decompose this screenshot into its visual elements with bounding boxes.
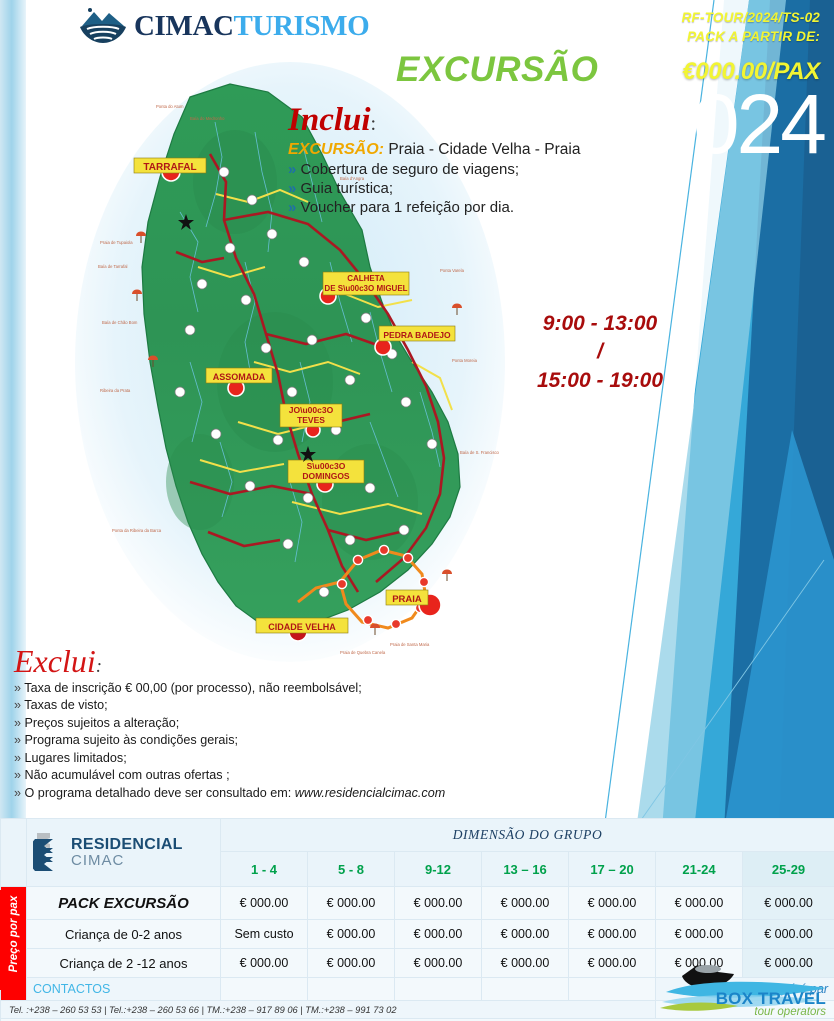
excludes-item: » Preços sujeitos a alteração;: [14, 716, 445, 730]
includes-item: » Voucher para 1 refeição por dia.: [288, 199, 580, 216]
price-cell: € 000.00: [308, 949, 395, 978]
reference-block: RF-TOUR/2024/TS-02 PACK A PARTIR DE:: [682, 8, 820, 46]
excludes-heading: Exclui:: [14, 645, 445, 677]
svg-text:TARRAFAL: TARRAFAL: [143, 162, 196, 173]
excludes-heading-colon: :: [96, 656, 102, 677]
includes-route: EXCURSÃO: Praia - Cidade Velha - Praia: [288, 141, 580, 159]
price-cell: € 000.00: [221, 887, 308, 920]
operator-tagline: tour operators: [716, 1007, 826, 1019]
column-header-7: 25-29: [743, 852, 834, 887]
excludes-item-label: Lugares limitados;: [25, 751, 127, 765]
bullet-icon: »: [14, 751, 21, 765]
column-header-1: 1 - 4: [221, 852, 308, 887]
table-row: PACK EXCURSÃO € 000.00 € 000.00 € 000.00…: [1, 887, 834, 920]
bullet-icon: »: [14, 698, 21, 712]
bullet-icon: »: [288, 199, 296, 216]
svg-text:Baía de Tarrafal: Baía de Tarrafal: [98, 264, 128, 269]
contacts-spacer: [308, 978, 395, 1001]
row-label-pack: PACK EXCURSÃO: [27, 887, 221, 920]
mountain-waves-icon: [78, 6, 128, 46]
price-cell: € 000.00: [743, 887, 834, 920]
website-url[interactable]: www.residencialcimac.com: [295, 786, 445, 800]
price-cell: € 000.00: [569, 949, 656, 978]
schedule-morning: 9:00 - 13:00: [500, 310, 700, 338]
svg-text:TEVES: TEVES: [297, 415, 325, 425]
logo-cimac: CIMAC: [134, 10, 234, 42]
svg-text:DOMINGOS: DOMINGOS: [302, 471, 350, 481]
includes-route-value: Praia - Cidade Velha - Praia: [388, 141, 580, 158]
price-cell: € 000.00: [395, 920, 482, 949]
page-title: EXCURSÃO: [396, 50, 598, 90]
residencial-wordmark: RESIDENCIAL CIMAC: [71, 837, 183, 868]
row-label-child-0-2: Criança de 0-2 anos: [27, 920, 221, 949]
brochure-page: RF-TOUR/2024/TS-02 PACK A PARTIR DE: €00…: [0, 0, 834, 1021]
excludes-item-label: Programa sujeito às condições gerais;: [25, 733, 239, 747]
box-travel-wordmark: BOX TRAVEL tour operators: [716, 990, 826, 1019]
includes-route-label: EXCURSÃO:: [288, 141, 384, 158]
pack-from-label: PACK A PARTIR DE:: [682, 27, 820, 46]
excludes-item: » Não acumulável com outras ofertas ;: [14, 768, 445, 782]
svg-text:S\u00c3O: S\u00c3O: [307, 461, 346, 471]
includes-item-label: Guia turística;: [301, 180, 394, 197]
group-dimension-header: DIMENSÃO DO GRUPO: [221, 819, 834, 852]
chevron-stack-icon: [33, 829, 67, 876]
includes-item: » Guia turística;: [288, 180, 580, 197]
table-row-group-header: RESIDENCIAL CIMAC DIMENSÃO DO GRUPO: [1, 819, 834, 852]
excludes-item: » Taxas de visto;: [14, 698, 445, 712]
logo-wordmark: CIMACTURISMO: [134, 12, 369, 41]
residencial-cimac-logo: RESIDENCIAL CIMAC: [27, 819, 221, 887]
svg-text:Ponta Varela: Ponta Varela: [440, 268, 465, 273]
bullet-icon: »: [14, 716, 21, 730]
excludes-item: » Taxa de inscrição € 00,00 (por process…: [14, 681, 445, 695]
table-row: Criança de 0-2 anos Sem custo € 000.00 €…: [1, 920, 834, 949]
bullet-icon: »: [14, 733, 21, 747]
excludes-item-label: Preços sujeitos a alteração;: [25, 716, 180, 730]
contacts-spacer: [395, 978, 482, 1001]
svg-text:Praia de Tupaiola: Praia de Tupaiola: [100, 240, 133, 245]
includes-item-label: Voucher para 1 refeição por dia.: [301, 199, 514, 216]
price-cell: € 000.00: [482, 949, 569, 978]
contacts-label: CONTACTOS: [27, 978, 221, 1001]
excludes-item-website: » O programa detalhado deve ser consulta…: [14, 786, 445, 800]
bullet-icon: »: [14, 768, 21, 782]
column-header-4: 13 – 16: [482, 852, 569, 887]
contacts-spacer: [221, 978, 308, 1001]
includes-block: Inclui: EXCURSÃO: Praia - Cidade Velha -…: [288, 104, 580, 216]
bullet-icon: »: [288, 180, 296, 197]
svg-text:DE S\u00c3O MIGUEL: DE S\u00c3O MIGUEL: [324, 284, 407, 293]
cimac-turismo-logo: CIMACTURISMO: [78, 6, 369, 46]
svg-text:Ponta Moreia: Ponta Moreia: [452, 358, 478, 363]
contacts-spacer: [569, 978, 656, 1001]
price-cell: € 000.00: [569, 920, 656, 949]
column-header-2: 5 - 8: [308, 852, 395, 887]
includes-heading: Inclui:: [288, 104, 580, 137]
price-cell: € 000.00: [743, 920, 834, 949]
svg-text:Ponta do Atum: Ponta do Atum: [156, 104, 184, 109]
svg-text:PEDRA BADEJO: PEDRA BADEJO: [383, 330, 451, 340]
column-header-5: 17 – 20: [569, 852, 656, 887]
schedule-block: 9:00 - 13:00 / 15:00 - 19:00: [500, 310, 700, 395]
price-cell: € 000.00: [221, 949, 308, 978]
brand-cell-spacer: [1, 819, 27, 887]
svg-text:ASSOMADA: ASSOMADA: [213, 372, 266, 382]
brand-line-2: CIMAC: [71, 853, 183, 868]
bullet-icon: »: [14, 681, 21, 695]
year-label: 2024: [649, 82, 824, 166]
svg-text:Baía do Medronho: Baía do Medronho: [190, 116, 225, 121]
box-travel-logo: BOX TRAVEL tour operators: [660, 962, 830, 1020]
phone-numbers: Tel. :+238 – 260 53 53 | Tel.:+238 – 260…: [1, 1001, 656, 1019]
svg-text:Ponta da Ribeira da Barca: Ponta da Ribeira da Barca: [112, 528, 162, 533]
brand-line-1: RESIDENCIAL: [71, 837, 183, 853]
price-cell: € 000.00: [482, 920, 569, 949]
svg-text:CIDADE VELHA: CIDADE VELHA: [268, 622, 336, 632]
excludes-item: » Programa sujeito às condições gerais;: [14, 733, 445, 747]
schedule-separator: /: [500, 338, 700, 366]
column-header-3: 9-12: [395, 852, 482, 887]
excludes-item-label: Não acumulável com outras ofertas ;: [25, 768, 230, 782]
svg-text:Baía de S. Francisco: Baía de S. Francisco: [460, 450, 500, 455]
includes-heading-colon: :: [371, 113, 377, 135]
includes-item: » Cobertura de seguro de viagens;: [288, 161, 580, 178]
schedule-afternoon: 15:00 - 19:00: [500, 367, 700, 395]
price-cell: € 000.00: [395, 887, 482, 920]
operator-name: BOX TRAVEL: [716, 990, 826, 1007]
bullet-icon: »: [288, 161, 296, 178]
price-cell: € 000.00: [656, 887, 743, 920]
price-cell: € 000.00: [656, 920, 743, 949]
excludes-block: Exclui: » Taxa de inscrição € 00,00 (por…: [14, 645, 445, 800]
svg-text:CALHETA: CALHETA: [347, 274, 385, 283]
price-cell: € 000.00: [308, 887, 395, 920]
price-cell: € 000.00: [395, 949, 482, 978]
column-header-6: 21-24: [656, 852, 743, 887]
includes-heading-text: Inclui: [288, 102, 371, 138]
excludes-heading-text: Exclui: [14, 643, 96, 679]
price-cell: € 000.00: [569, 887, 656, 920]
price-cell: € 000.00: [482, 887, 569, 920]
contacts-spacer: [482, 978, 569, 1001]
ref-code: RF-TOUR/2024/TS-02: [682, 8, 820, 27]
includes-item-label: Cobertura de seguro de viagens;: [301, 161, 519, 178]
svg-text:PRAIA: PRAIA: [392, 594, 422, 605]
price-cell: Sem custo: [221, 920, 308, 949]
excludes-item-label: O programa detalhado deve ser consultado…: [25, 786, 295, 800]
price-per-pax-bar: Preço por pax: [0, 890, 26, 990]
excludes-item-label: Taxa de inscrição € 00,00 (por processo)…: [24, 681, 361, 695]
svg-text:Baía de Chão Bom: Baía de Chão Bom: [102, 320, 138, 325]
bullet-icon: »: [14, 786, 21, 800]
svg-text:JO\u00c3O: JO\u00c3O: [289, 405, 334, 415]
row-label-child-2-12: Criança de 2 -12 anos: [27, 949, 221, 978]
svg-text:Ribeira da Prata: Ribeira da Prata: [100, 388, 131, 393]
excludes-item-label: Taxas de visto;: [24, 698, 107, 712]
excludes-item: » Lugares limitados;: [14, 751, 445, 765]
price-per-pax-text: Preço por pax: [8, 889, 20, 979]
logo-turismo: TURISMO: [234, 10, 370, 42]
price-cell: € 000.00: [308, 920, 395, 949]
